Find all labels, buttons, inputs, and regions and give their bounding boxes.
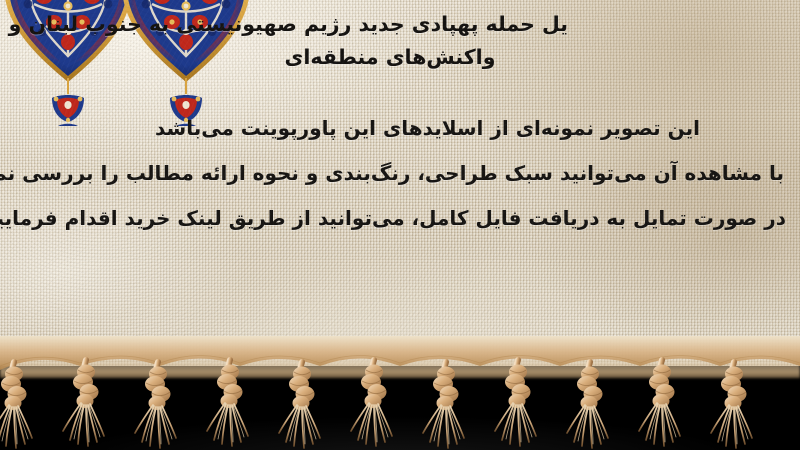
body-line-1: این تصویر نمونه‌ای از اسلایدهای این پاور…: [6, 106, 792, 151]
body-line-3: در صورت تمایل به دریافت فایل کامل، می‌تو…: [6, 196, 792, 241]
slide-title-line-2: واکنش‌های منطقه‌ای: [0, 41, 780, 74]
slide-title-line-1: یل حمله پهپادی جدید رژیم صهیونیستی به جن…: [0, 8, 568, 41]
slide-canvas: یل حمله پهپادی جدید رژیم صهیونیستی به جن…: [0, 0, 800, 450]
slide-title: یل حمله پهپادی جدید رژیم صهیونیستی به جن…: [0, 8, 800, 74]
slide-body-text: این تصویر نمونه‌ای از اسلایدهای این پاور…: [6, 106, 792, 241]
bottom-black-band: [0, 366, 800, 450]
body-line-2: با مشاهده آن می‌توانید سبک طراحی، رنگ‌بن…: [6, 151, 792, 196]
